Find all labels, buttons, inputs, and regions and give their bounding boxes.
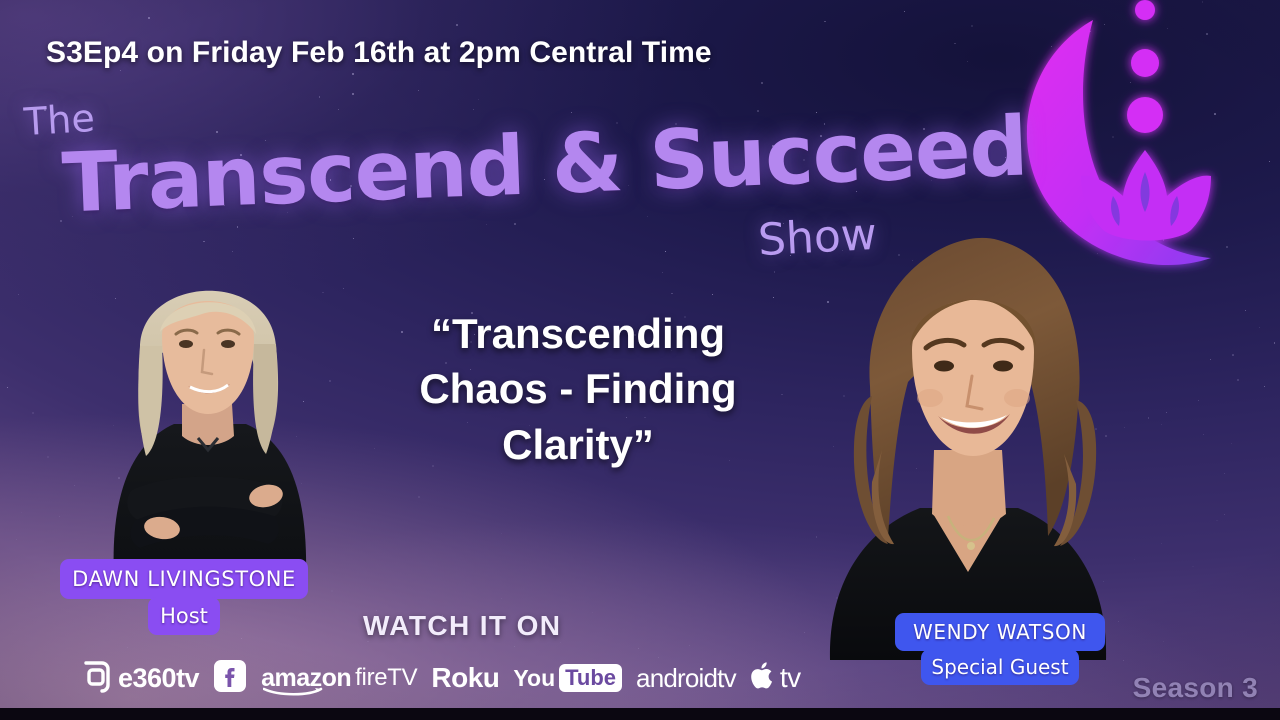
episode-date-line: S3Ep4 on Friday Feb 16th at 2pm Central …	[46, 36, 712, 70]
firetv-label: fireTV	[355, 664, 417, 692]
episode-title-line-1: “Transcending	[378, 306, 778, 361]
guest-role-badge: Special Guest	[921, 649, 1079, 685]
youtube-you-label: You	[513, 665, 555, 692]
facebook-icon	[213, 659, 247, 698]
platform-amazon-firetv[interactable]: amazon fireTV	[261, 655, 417, 701]
amazon-label: amazon	[261, 664, 351, 693]
platform-logo-row: e360tv amazon fireTV Roku	[80, 655, 801, 701]
appletv-label: tv	[780, 662, 801, 694]
platform-facebook[interactable]	[213, 655, 247, 701]
platform-roku[interactable]: Roku	[431, 655, 499, 701]
roku-label: Roku	[431, 662, 499, 694]
youtube-tube-label: Tube	[559, 664, 622, 692]
androidtv-label: androidtv	[636, 663, 736, 694]
photo-guest-wendy-watson	[812, 200, 1122, 660]
episode-title-line-3: Clarity”	[378, 417, 778, 472]
episode-title: “Transcending Chaos - Finding Clarity”	[378, 306, 778, 472]
platform-youtube[interactable]: You Tube	[513, 655, 622, 701]
apple-icon	[750, 661, 776, 696]
photo-host-dawn-livingstone	[70, 228, 340, 578]
guest-name-badge: WENDY WATSON	[895, 613, 1105, 651]
platform-appletv[interactable]: tv	[750, 655, 801, 701]
episode-title-line-2: Chaos - Finding	[378, 361, 778, 416]
bottom-letterbox-strip	[0, 708, 1280, 720]
host-role-badge: Host	[148, 597, 220, 635]
promo-graphic: S3Ep4 on Friday Feb 16th at 2pm Central …	[0, 0, 1280, 720]
season-label: Season 3	[1133, 672, 1258, 704]
platform-androidtv[interactable]: androidtv	[636, 655, 736, 701]
watch-it-on-label: WATCH IT ON	[363, 610, 561, 642]
host-name-badge: DAWN LIVINGSTONE	[60, 559, 308, 599]
amazon-smile-icon	[263, 687, 325, 696]
e360tv-icon	[80, 659, 114, 698]
platform-e360tv[interactable]: e360tv	[80, 655, 199, 701]
e360tv-label: e360tv	[118, 663, 199, 694]
